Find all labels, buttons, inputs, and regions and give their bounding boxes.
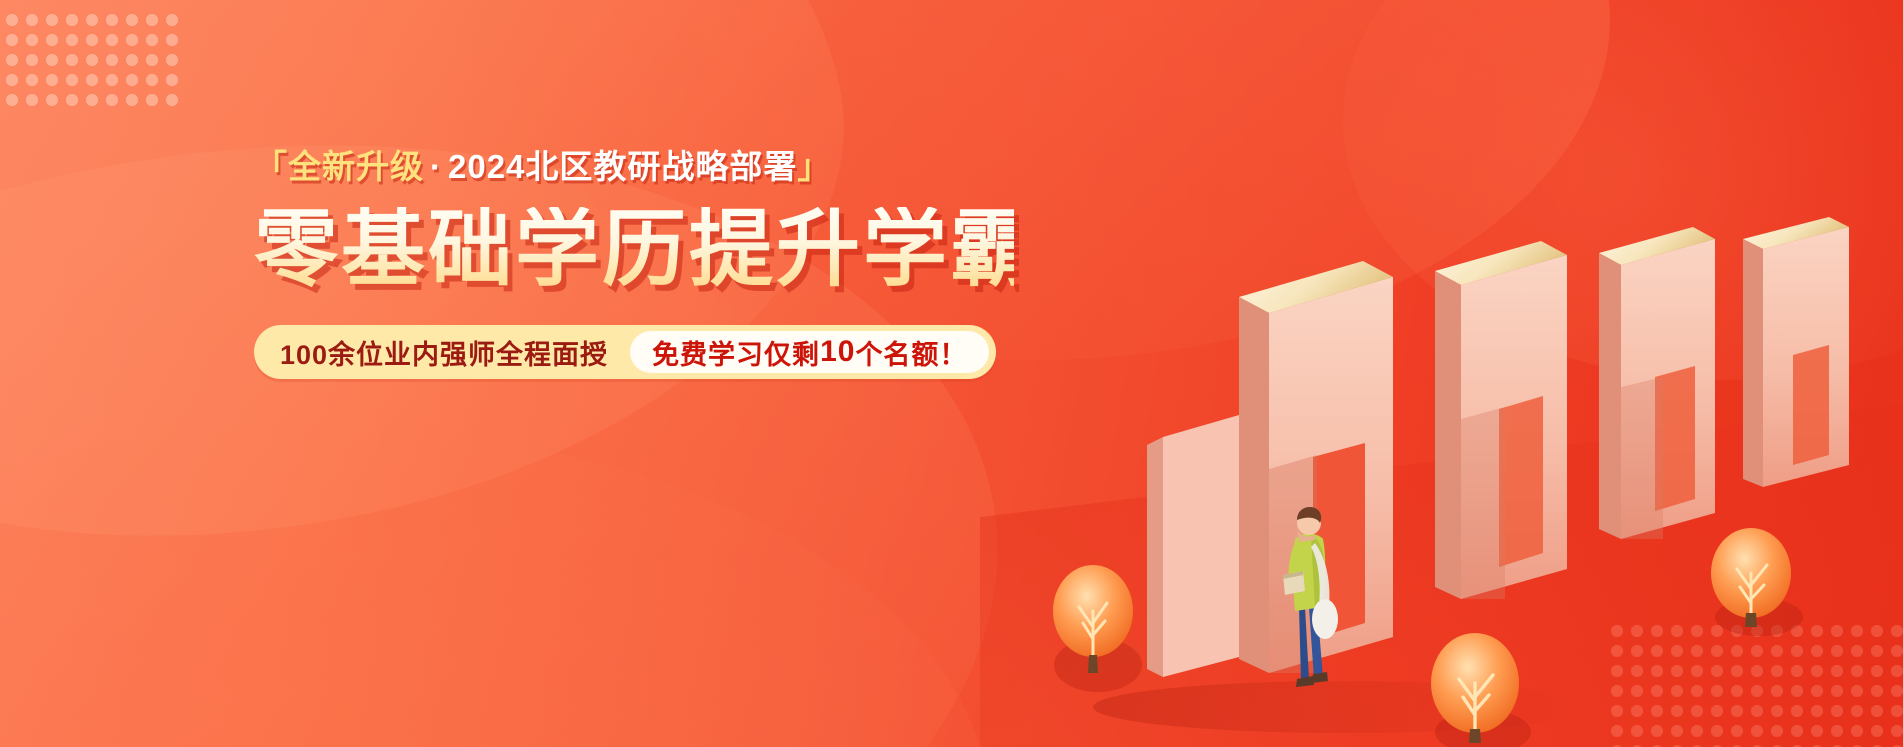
subtitle-bracket-open: 「: [254, 148, 288, 185]
dot-grid-top-left-icon: [0, 8, 182, 112]
book-arch-2: [1435, 241, 1567, 599]
tree-left: [1053, 565, 1142, 692]
book-arch-1: [1147, 261, 1393, 677]
banner-subtitle: 「全新升级·2024北区教研战略部署」: [254, 150, 1014, 183]
subtitle-highlight: 全新升级: [288, 148, 424, 185]
subtitle-separator: ·: [424, 148, 448, 185]
promo-banner: 「全新升级·2024北区教研战略部署」 零基础学历提升学霸班 100余位业内强师…: [0, 0, 1903, 747]
seats-prefix: 免费学习仅剩: [652, 333, 820, 372]
book-arch-4: [1743, 217, 1849, 487]
seats-suffix: 个名额！: [855, 333, 967, 372]
banner-copy: 「全新升级·2024北区教研战略部署」 零基础学历提升学霸班 100余位业内强师…: [254, 150, 1014, 379]
book-arch-3: [1599, 227, 1715, 539]
page-title: 零基础学历提升学霸班: [254, 207, 1014, 291]
subtitle-rest: 2024北区教研战略部署: [448, 148, 797, 185]
tree-right: [1711, 528, 1803, 636]
highlight-pill: 100余位业内强师全程面授 免费学习仅剩10个名额！: [254, 325, 996, 379]
tree-mid: [1431, 633, 1531, 747]
seats-count: 10: [820, 335, 855, 369]
pill-left-label: 100余位业内强师全程面授: [280, 333, 630, 372]
subtitle-bracket-close: 」: [797, 148, 831, 185]
illustration-books-and-student: [1043, 187, 1903, 747]
seats-remaining-badge: 免费学习仅剩10个名额！: [630, 331, 989, 373]
